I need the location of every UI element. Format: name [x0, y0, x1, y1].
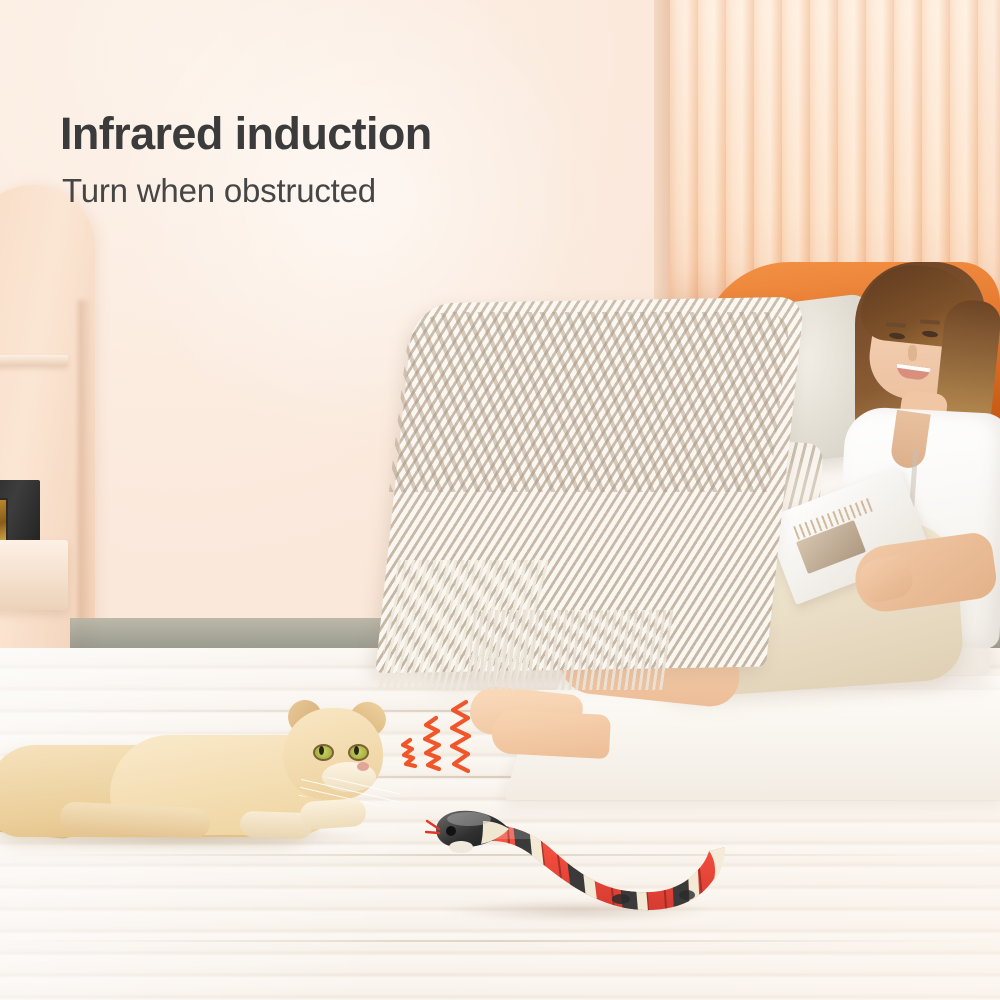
upper-shelf [0, 355, 68, 366]
headline: Infrared induction [60, 108, 432, 160]
throw-blanket-zigzag-weave [389, 312, 791, 492]
cat-pupil-left [319, 746, 324, 755]
product-marketing-scene: Infrared induction Turn when obstructed [0, 0, 1000, 1000]
woman-foot-right [491, 709, 611, 759]
cat-nose [357, 762, 369, 771]
lower-shelf-ledge [0, 540, 68, 610]
slat-wall-panel [670, 0, 1000, 300]
cat-paw-front [299, 798, 367, 831]
subheadline: Turn when obstructed [62, 172, 376, 210]
cat-pupil-right [354, 746, 359, 755]
throw-blanket-fringe-lower [466, 610, 674, 690]
slat-wall-edge [654, 0, 670, 300]
snake-toy [425, 795, 745, 935]
woman-nose [908, 345, 917, 361]
infrared-signal-waves [392, 692, 492, 778]
